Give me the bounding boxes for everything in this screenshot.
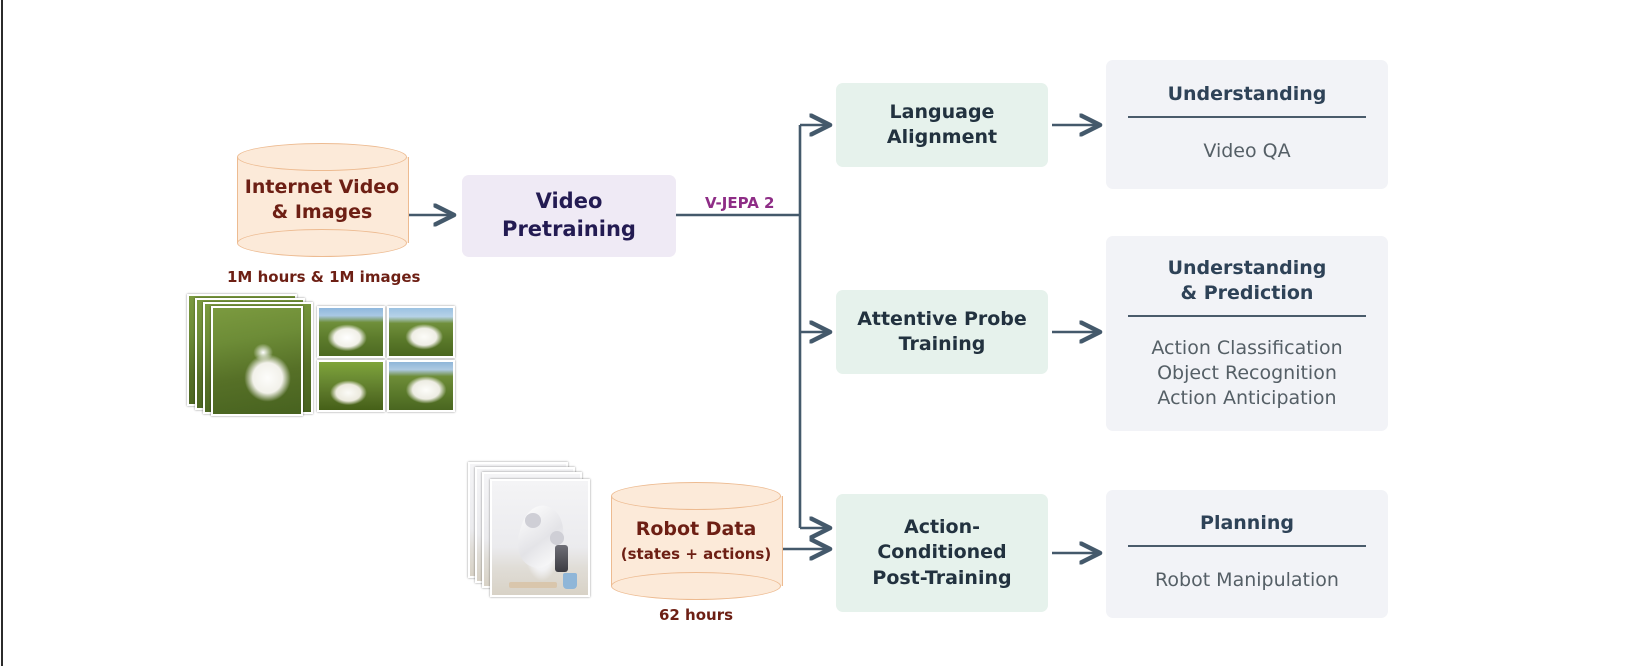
photo-tile (387, 360, 455, 412)
outcome-understanding-prediction[interactable]: Understanding & Prediction Action Classi… (1106, 236, 1388, 431)
outcome-task: Video QA (1203, 139, 1290, 164)
outcome-divider (1128, 545, 1366, 547)
outcome-task: Robot Manipulation (1155, 568, 1339, 593)
stage-line1: Language (890, 101, 995, 123)
outcome-task-list: Video QA (1203, 139, 1290, 164)
outcome-heading-line1: Understanding (1168, 83, 1327, 105)
stage-line2: Alignment (887, 126, 997, 148)
outcome-heading-line1: Understanding (1168, 257, 1327, 279)
robot-gripper (555, 545, 567, 572)
robot-data-cylinder: Robot Data (states + actions) (611, 482, 781, 600)
internet-video-photo-stack (185, 294, 460, 418)
robot-bucket (563, 573, 577, 589)
outcome-task: Action Anticipation (1151, 386, 1342, 411)
diagram-canvas: Internet Video & Images 1M hours & 1M im… (0, 0, 1632, 666)
stage-line2: Conditioned (877, 541, 1006, 563)
stage-attentive-probe-training[interactable]: Attentive Probe Training (836, 290, 1048, 374)
photo-frame-front (490, 479, 590, 597)
robot-data-title: Robot Data (636, 517, 757, 542)
outcome-task-list: Action Classification Object Recognition… (1151, 336, 1342, 411)
stage-attentive-probe-label: Attentive Probe Training (857, 307, 1027, 357)
robot-joint (525, 513, 541, 528)
outcome-heading: Planning (1200, 511, 1294, 536)
stage-line1: Attentive Probe (857, 308, 1027, 330)
outcome-understanding[interactable]: Understanding Video QA (1106, 60, 1388, 189)
outcome-heading: Understanding & Prediction (1168, 256, 1327, 306)
outcome-task: Action Classification (1151, 336, 1342, 361)
outcome-task-list: Robot Manipulation (1155, 568, 1339, 593)
outcome-planning[interactable]: Planning Robot Manipulation (1106, 490, 1388, 618)
video-pretraining-line1: Video (536, 189, 603, 213)
internet-video-cylinder: Internet Video & Images (237, 143, 407, 257)
stage-line1: Action- (904, 516, 980, 538)
robot-joint (550, 531, 564, 545)
internet-video-label: Internet Video & Images (237, 143, 407, 257)
stage-action-conditioned-post-training[interactable]: Action- Conditioned Post-Training (836, 494, 1048, 612)
photo-tile (387, 306, 455, 358)
outcome-heading-line1: Planning (1200, 512, 1294, 534)
video-pretraining-box[interactable]: Video Pretraining (462, 175, 676, 257)
robot-data-caption: 62 hours (611, 606, 781, 624)
robot-data-label: Robot Data (states + actions) (611, 482, 781, 600)
internet-video-caption: 1M hours & 1M images (227, 268, 417, 286)
robot-data-photo-stack (468, 462, 598, 600)
outcome-task: Object Recognition (1151, 361, 1342, 386)
stage-line3: Post-Training (872, 567, 1011, 589)
internet-video-title-line1: Internet Video (245, 175, 399, 200)
stage-line2: Training (899, 333, 986, 355)
robot-table (509, 582, 557, 588)
photo-tile (317, 360, 385, 412)
video-pretraining-line2: Pretraining (502, 217, 636, 241)
outcome-heading-line2: & Prediction (1181, 282, 1314, 304)
stage-language-alignment[interactable]: Language Alignment (836, 83, 1048, 167)
photo-frame-front (211, 306, 303, 416)
photo-tile (317, 306, 385, 358)
outcome-divider (1128, 116, 1366, 118)
vjepa-model-label: V-JEPA 2 (705, 194, 774, 212)
stage-language-alignment-label: Language Alignment (887, 100, 997, 150)
internet-video-title-line2: & Images (272, 200, 373, 225)
video-pretraining-label: Video Pretraining (502, 188, 636, 243)
outcome-divider (1128, 315, 1366, 317)
outcome-heading: Understanding (1168, 82, 1327, 107)
stage-action-conditioned-label: Action- Conditioned Post-Training (872, 515, 1011, 590)
robot-data-subtitle: (states + actions) (621, 545, 771, 565)
